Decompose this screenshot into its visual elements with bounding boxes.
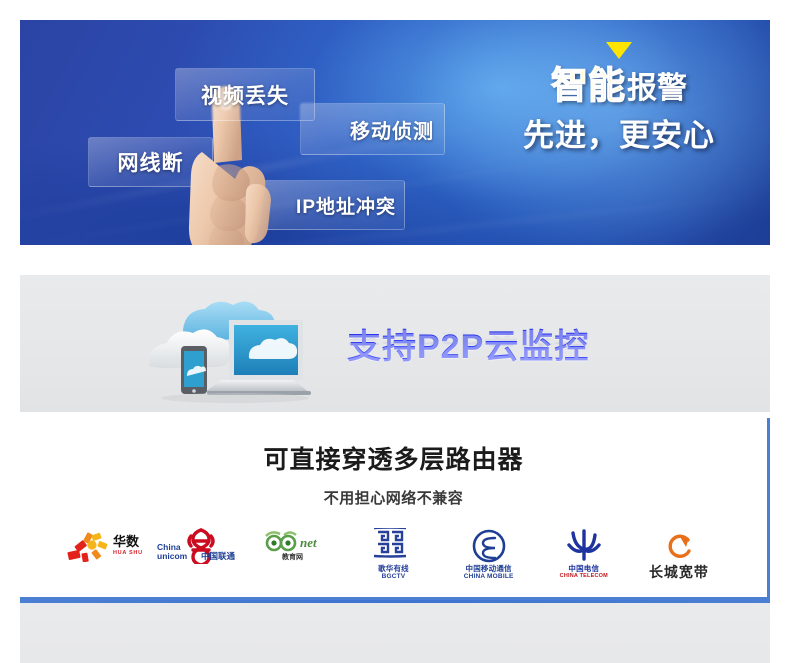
- china-telecom-caption-cn: 中国电信: [538, 564, 630, 573]
- china-mobile-caption-cn: 中国移动通信: [443, 564, 535, 573]
- alarm-headline: 智能报警: [504, 67, 734, 106]
- partner-logo-china-telecom: 中国电信 CHINA TELECOM: [538, 530, 630, 580]
- china-telecom-logo: [538, 530, 630, 562]
- p2p-title: 支持P2P云监控: [347, 319, 589, 368]
- bgctv-caption: 歌华有线 BGCTV: [347, 564, 439, 582]
- p2p-section: 支持P2P云监控 支持P2P云监控: [20, 275, 770, 412]
- svg-text:HUA SHU: HUA SHU: [113, 550, 143, 556]
- svg-text:中国联通: 中国联通: [201, 551, 236, 561]
- feature-chip-motion-detect[interactable]: 移动侦测: [300, 103, 445, 155]
- p2p-title-wrap: 支持P2P云监控 支持P2P云监控: [347, 319, 589, 368]
- card-subheading: 不用担心网络不兼容: [20, 487, 767, 508]
- china-telecom-caption: 中国电信 CHINA TELECOM: [538, 564, 630, 580]
- svg-text:net: net: [300, 535, 317, 550]
- footer-strip: [20, 603, 770, 663]
- alarm-headline-rest: 报警: [627, 72, 687, 105]
- china-unicom-logo: China unicom 中国联通: [157, 530, 249, 562]
- svg-text:unicom: unicom: [157, 551, 188, 561]
- card-heading: 可直接穿透多层路由器: [20, 440, 767, 476]
- triangle-down-icon: [606, 42, 632, 59]
- cernet-logo: net 教育网: [252, 530, 344, 562]
- partner-logo-china-mobile: 中国移动通信 CHINA MOBILE: [443, 530, 535, 582]
- partner-logo-cernet: net 教育网: [252, 530, 344, 562]
- router-traversal-card: 可直接穿透多层路由器 不用担心网络不兼容: [20, 418, 770, 600]
- china-mobile-caption-en: CHINA MOBILE: [443, 573, 535, 581]
- promo-page: 网线断 移动侦测 IP地址冲突: [0, 0, 790, 663]
- partner-logo-row: 华数 HUA SHU: [62, 530, 725, 582]
- alarm-subheadline: 先进，更安心: [504, 110, 734, 155]
- great-wall-word: 长城宽带: [649, 564, 709, 580]
- china-telecom-caption-en: CHINA TELECOM: [538, 573, 630, 580]
- alarm-headline-block: 智能报警 先进，更安心: [504, 42, 734, 155]
- great-wall-broadband-logo: [633, 530, 725, 562]
- feature-chip-label: IP地址冲突: [296, 192, 396, 219]
- feature-chip-label: 视频丢失: [201, 80, 289, 110]
- feature-chip-label: 移动侦测: [350, 115, 434, 144]
- bgctv-caption-cn: 歌华有线: [347, 564, 439, 573]
- alarm-banner: 网线断 移动侦测 IP地址冲突: [20, 20, 770, 245]
- alarm-headline-highlight: 智能: [551, 65, 627, 106]
- china-mobile-caption: 中国移动通信 CHINA MOBILE: [443, 564, 535, 582]
- huashu-logo: 华数 HUA SHU: [62, 530, 154, 562]
- partner-logo-great-wall: 长城宽带: [633, 530, 725, 582]
- svg-text:教育网: 教育网: [281, 552, 303, 561]
- cloud-devices-icon: [125, 284, 335, 404]
- great-wall-caption: 长城宽带: [633, 564, 725, 582]
- partner-logo-bgctv: 歌华有线 BGCTV: [347, 530, 439, 582]
- svg-text:华数: 华数: [113, 534, 140, 549]
- feature-chip-video-loss[interactable]: 视频丢失: [175, 68, 315, 121]
- partner-logo-china-unicom: China unicom 中国联通: [157, 530, 249, 562]
- bgctv-logo: [347, 530, 439, 562]
- partner-logo-huashu: 华数 HUA SHU: [62, 530, 154, 562]
- china-mobile-logo: [443, 530, 535, 562]
- bgctv-caption-en: BGCTV: [347, 573, 439, 581]
